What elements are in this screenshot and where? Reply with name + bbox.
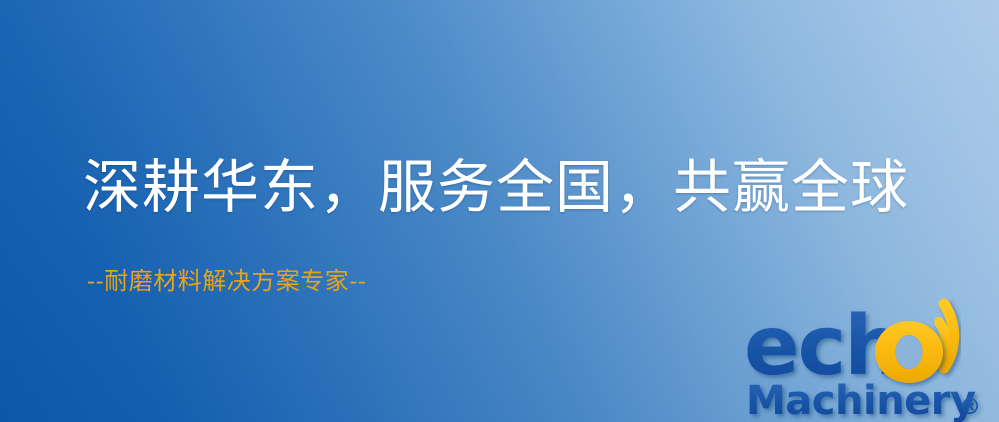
logo-subname: Machinery — [746, 378, 976, 422]
logo-wordmark-gold-o — [875, 321, 943, 383]
echo-machinery-logo[interactable]: ech Machinery ® — [744, 298, 999, 422]
logo-trademark: ® — [959, 395, 981, 420]
promo-banner: 深耕华东，服务全国，共赢全球 --耐磨材料解决方案专家-- — [0, 0, 999, 422]
banner-subtitle: --耐磨材料解决方案专家-- — [87, 266, 366, 296]
banner-headline: 深耕华东，服务全国，共赢全球 — [83, 152, 909, 222]
